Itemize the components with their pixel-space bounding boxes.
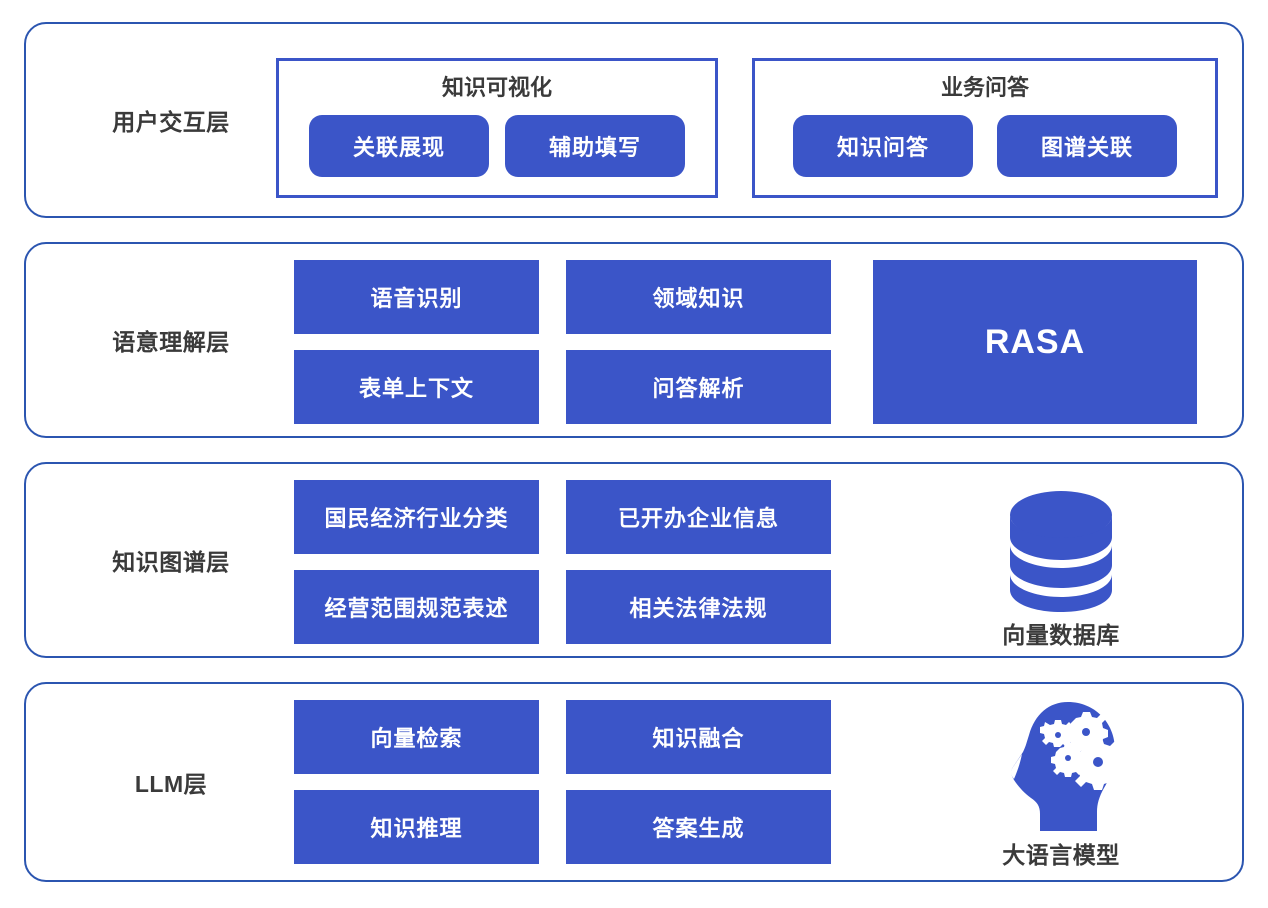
database-icon bbox=[1002, 490, 1120, 612]
tile-form-context[interactable]: 表单上下文 bbox=[294, 350, 539, 424]
architecture-diagram: 用户交互层 知识可视化 关联展现 辅助填写 业务问答 知识问答 图谱关联 语意理… bbox=[0, 0, 1268, 908]
brain-head-icon bbox=[998, 700, 1124, 832]
large-language-model-caption: 大语言模型 bbox=[1002, 836, 1120, 870]
tile-column-b-llm: 知识融合 答案生成 bbox=[566, 700, 831, 864]
tile-business-scope-expression[interactable]: 经营范围规范表述 bbox=[294, 570, 539, 644]
tile-vector-retrieval[interactable]: 向量检索 bbox=[294, 700, 539, 774]
pill-relation-display[interactable]: 关联展现 bbox=[309, 115, 489, 177]
tile-column-b-semantic: 领域知识 问答解析 bbox=[566, 260, 831, 424]
pill-row-knowledge-visualization: 关联展现 辅助填写 bbox=[279, 111, 715, 181]
layer-semantic-understanding: 语意理解层 语音识别 表单上下文 领域知识 问答解析 RASA bbox=[24, 242, 1244, 438]
layer-llm: LLM层 向量检索 知识推理 知识融合 答案生成 bbox=[24, 682, 1244, 882]
tile-industry-classification[interactable]: 国民经济行业分类 bbox=[294, 480, 539, 554]
tile-related-laws-regulations[interactable]: 相关法律法规 bbox=[566, 570, 831, 644]
group-knowledge-visualization: 知识可视化 关联展现 辅助填写 bbox=[276, 58, 718, 198]
pill-assisted-filling[interactable]: 辅助填写 bbox=[505, 115, 685, 177]
group-title-knowledge-visualization: 知识可视化 bbox=[279, 70, 715, 102]
tile-knowledge-fusion[interactable]: 知识融合 bbox=[566, 700, 831, 774]
pill-graph-association[interactable]: 图谱关联 bbox=[997, 115, 1177, 177]
tile-qa-parsing[interactable]: 问答解析 bbox=[566, 350, 831, 424]
tile-column-a-llm: 向量检索 知识推理 bbox=[294, 700, 539, 864]
layer-knowledge-graph: 知识图谱层 国民经济行业分类 经营范围规范表述 已开办企业信息 相关法律法规 bbox=[24, 462, 1244, 658]
vector-database-block: 向量数据库 bbox=[926, 474, 1196, 650]
tile-column-a-kg: 国民经济行业分类 经营范围规范表述 bbox=[294, 480, 539, 644]
layer-title-semantic-understanding: 语意理解层 bbox=[66, 244, 276, 436]
tile-knowledge-reasoning[interactable]: 知识推理 bbox=[294, 790, 539, 864]
tile-column-b-kg: 已开办企业信息 相关法律法规 bbox=[566, 480, 831, 644]
tile-speech-recognition[interactable]: 语音识别 bbox=[294, 260, 539, 334]
tile-answer-generation[interactable]: 答案生成 bbox=[566, 790, 831, 864]
layer-user-interaction: 用户交互层 知识可视化 关联展现 辅助填写 业务问答 知识问答 图谱关联 bbox=[24, 22, 1244, 218]
large-language-model-block: 大语言模型 bbox=[926, 694, 1196, 870]
vector-database-caption: 向量数据库 bbox=[1002, 616, 1120, 650]
tile-domain-knowledge[interactable]: 领域知识 bbox=[566, 260, 831, 334]
pill-row-business-qa: 知识问答 图谱关联 bbox=[755, 111, 1215, 181]
rasa-box[interactable]: RASA bbox=[873, 260, 1197, 424]
tile-registered-enterprise-info[interactable]: 已开办企业信息 bbox=[566, 480, 831, 554]
layer-title-llm: LLM层 bbox=[66, 684, 276, 880]
layer-title-knowledge-graph: 知识图谱层 bbox=[66, 464, 276, 656]
group-title-business-qa: 业务问答 bbox=[755, 70, 1215, 102]
tile-column-a-semantic: 语音识别 表单上下文 bbox=[294, 260, 539, 424]
layer-title-user-interaction: 用户交互层 bbox=[66, 24, 276, 216]
pill-knowledge-qa[interactable]: 知识问答 bbox=[793, 115, 973, 177]
group-business-qa: 业务问答 知识问答 图谱关联 bbox=[752, 58, 1218, 198]
